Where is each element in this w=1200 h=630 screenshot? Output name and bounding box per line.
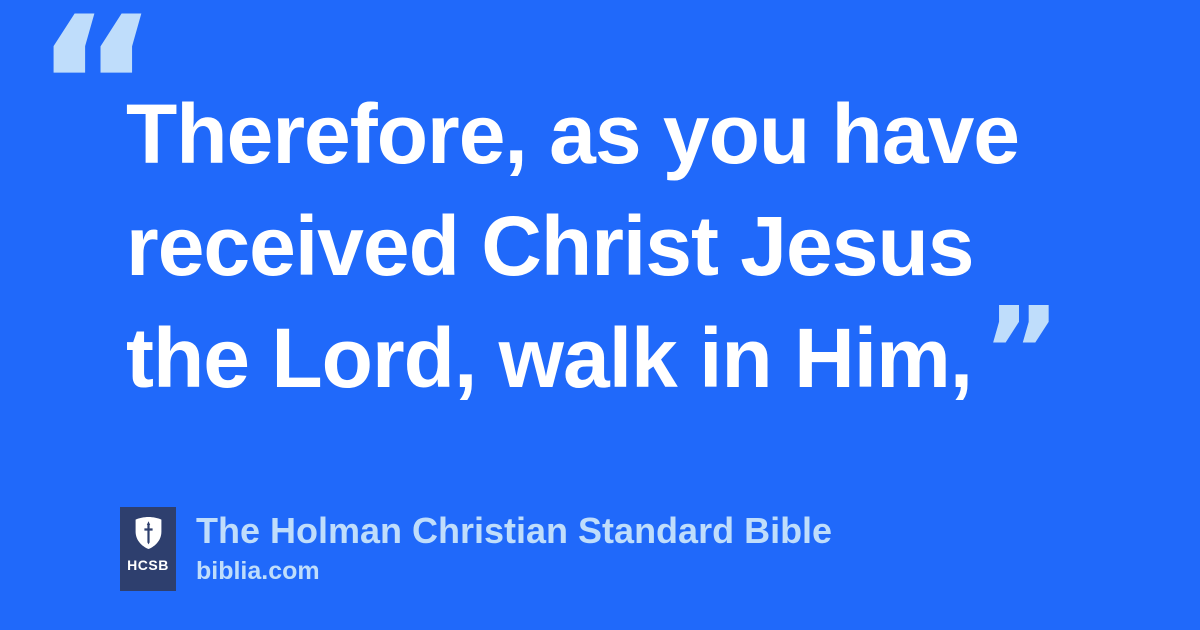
attribution-footer: HCSB The Holman Christian Standard Bible…: [120, 507, 832, 591]
hcsb-logo-badge: HCSB: [120, 507, 176, 591]
attribution-text: The Holman Christian Standard Bible bibl…: [196, 507, 832, 586]
quote-block: “ Therefore, as you have received Christ…: [0, 0, 1200, 470]
quote-line-text: the Lord, walk in Him,: [126, 311, 972, 405]
quote-line: Therefore, as you have: [126, 78, 1196, 190]
verse-quote-card: “ Therefore, as you have received Christ…: [0, 0, 1200, 630]
quote-text: Therefore, as you have received Christ J…: [126, 78, 1196, 414]
source-title: The Holman Christian Standard Bible: [196, 509, 832, 553]
shield-cross-icon: [135, 517, 162, 549]
source-site: biblia.com: [196, 556, 832, 586]
quote-line: the Lord, walk in Him,”: [126, 302, 1196, 414]
hcsb-wordmark: HCSB: [127, 558, 169, 572]
